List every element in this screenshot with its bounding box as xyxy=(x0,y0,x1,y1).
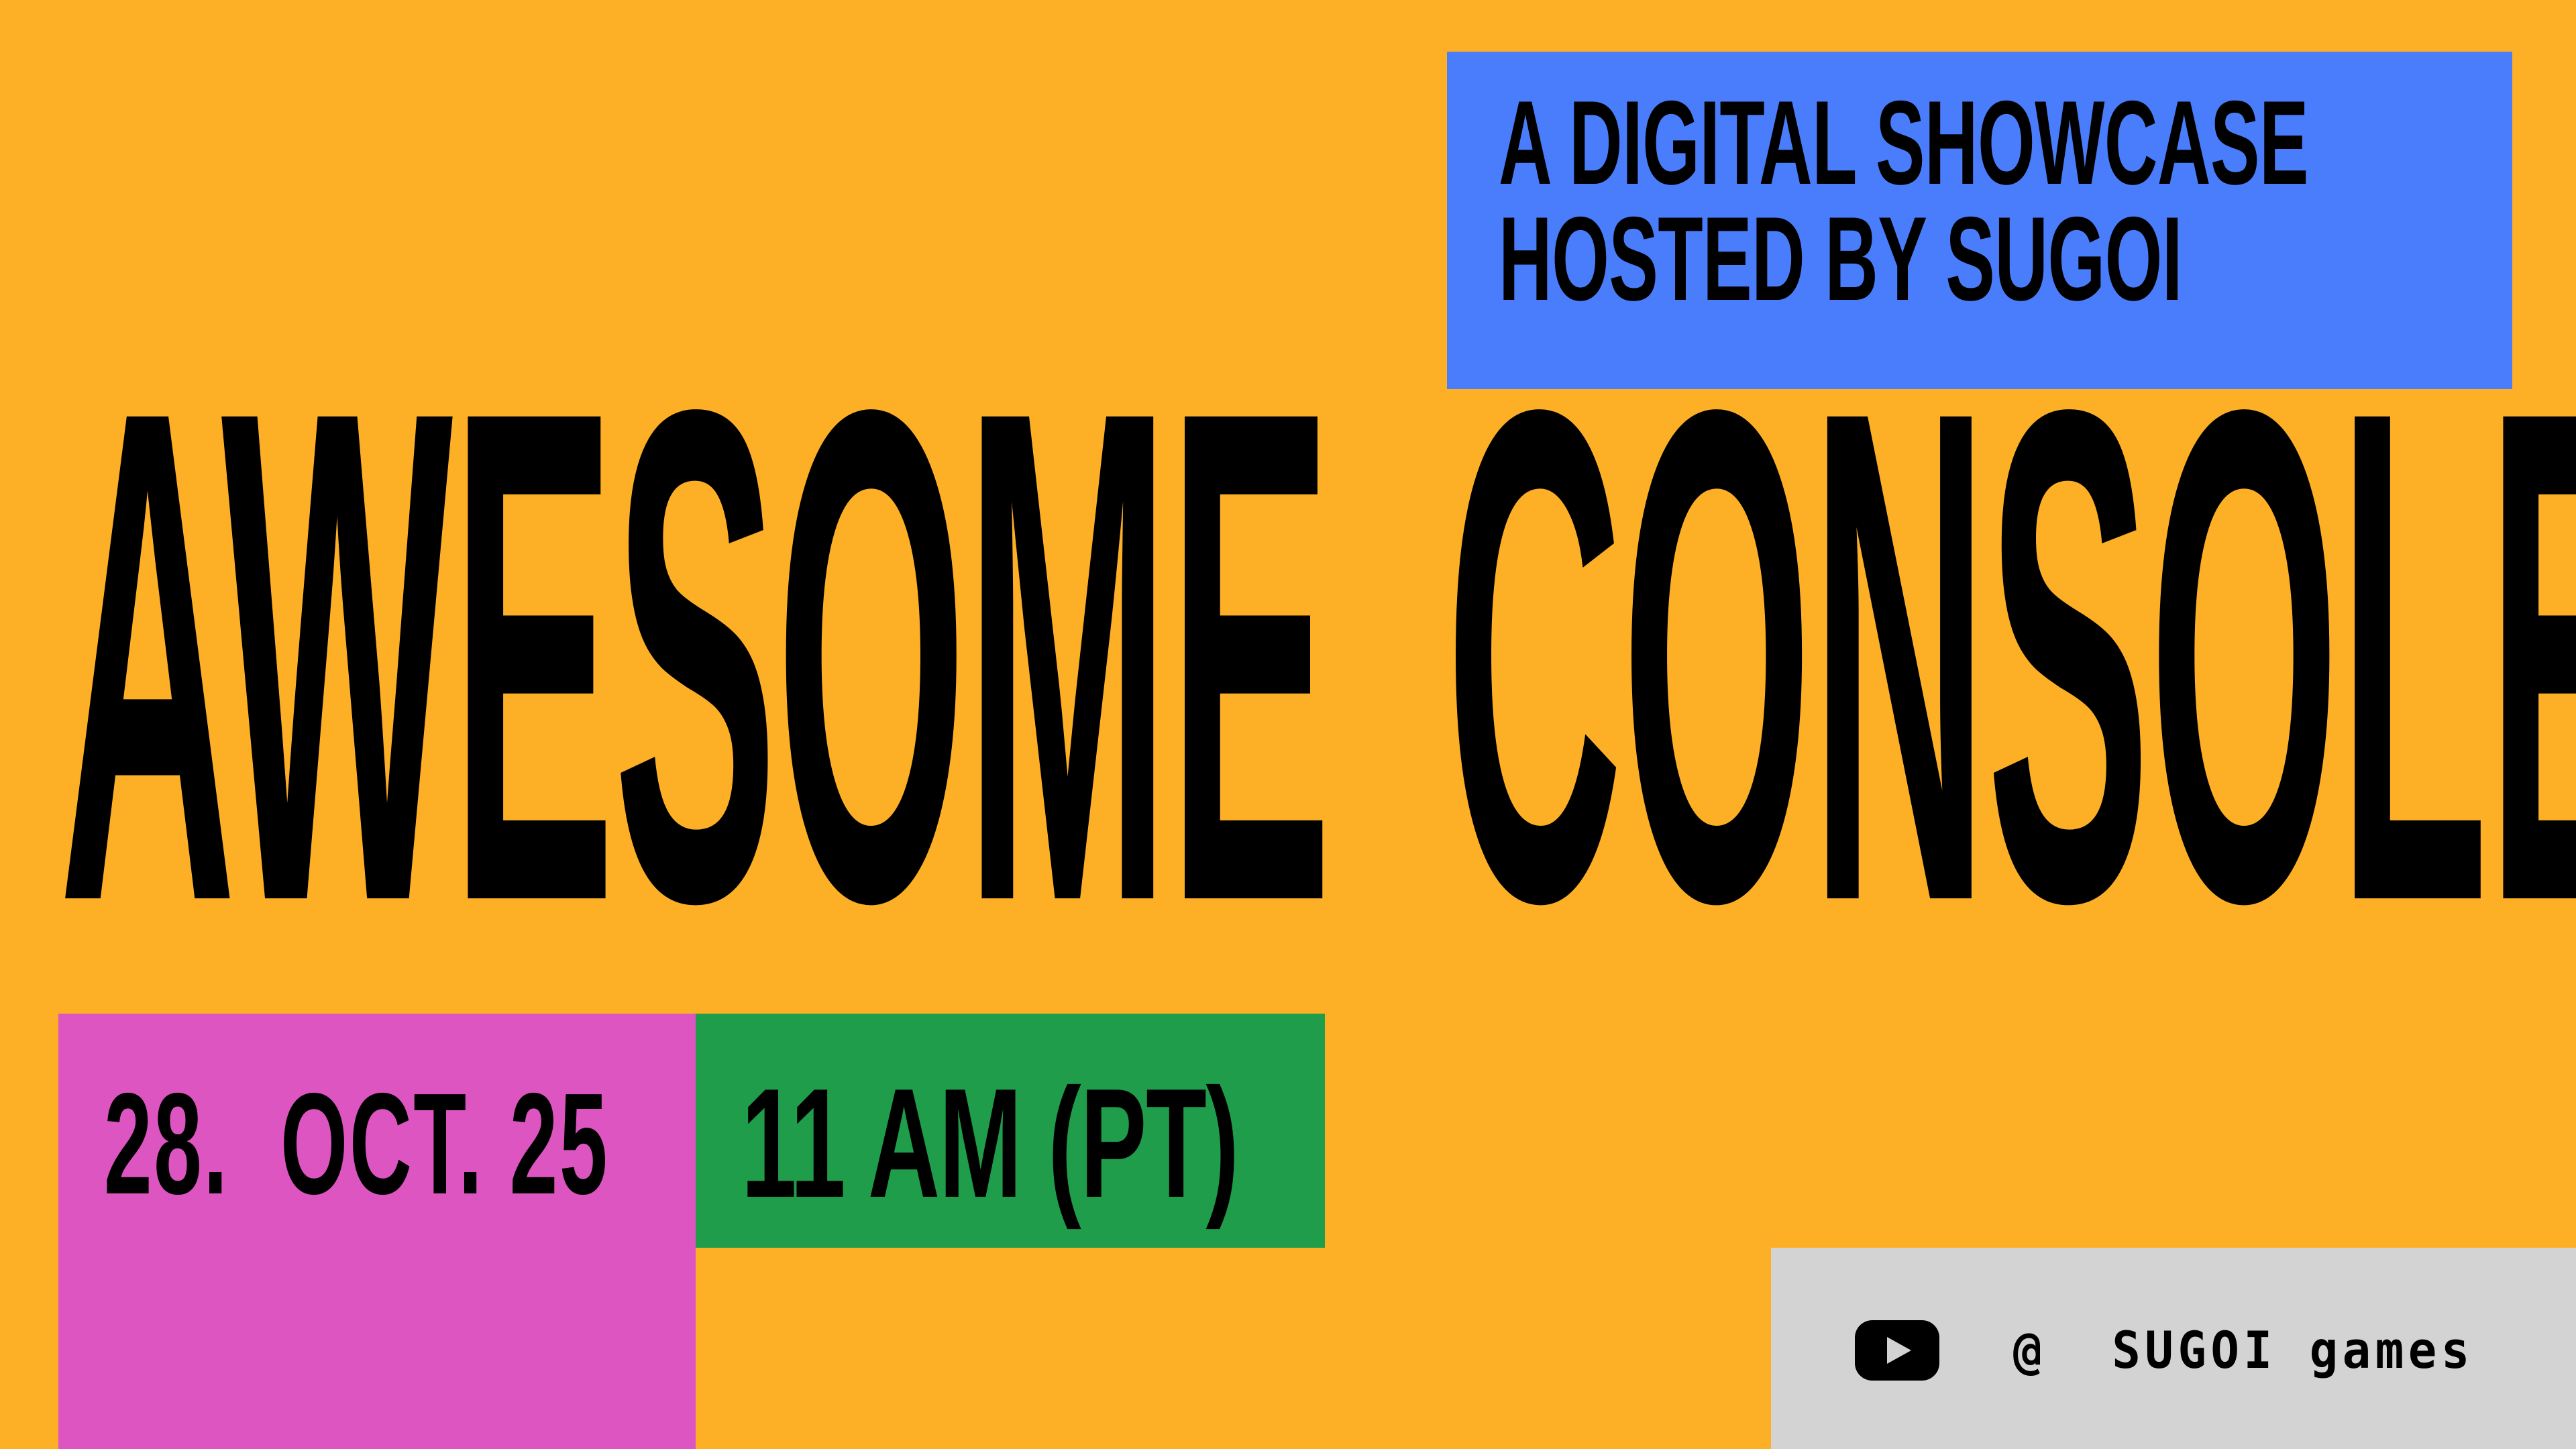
event-time-block: 11 AM (PT) xyxy=(696,1014,1325,1248)
social-handle-text[interactable]: @ SUGOI games xyxy=(2013,1320,2474,1381)
youtube-play-icon[interactable] xyxy=(1855,1320,1939,1381)
title-row: AWESOME CONSOLE xyxy=(59,376,2519,953)
social-handle-block[interactable]: @ SUGOI games xyxy=(1771,1248,2576,1449)
title-word-awesome: AWESOME xyxy=(59,376,500,936)
event-poster: A DIGITAL SHOWCASE HOSTED BY SUGOI AWESO… xyxy=(0,0,2576,1449)
title-word-console: CONSOLE xyxy=(1446,376,1816,936)
poster-title: AWESOME CONSOLE xyxy=(0,376,2576,979)
event-date-label: 28. OCT. 25 xyxy=(104,1071,609,1216)
title-word-2-box: CONSOLE xyxy=(1446,376,2519,945)
title-word-1-box: AWESOME xyxy=(59,376,1337,945)
event-date-block: 28. OCT. 25 xyxy=(58,1014,696,1449)
event-time-label: 11 AM (PT) xyxy=(741,1066,1238,1222)
announcement-line-1: A DIGITAL SHOWCASE xyxy=(1499,85,2102,201)
